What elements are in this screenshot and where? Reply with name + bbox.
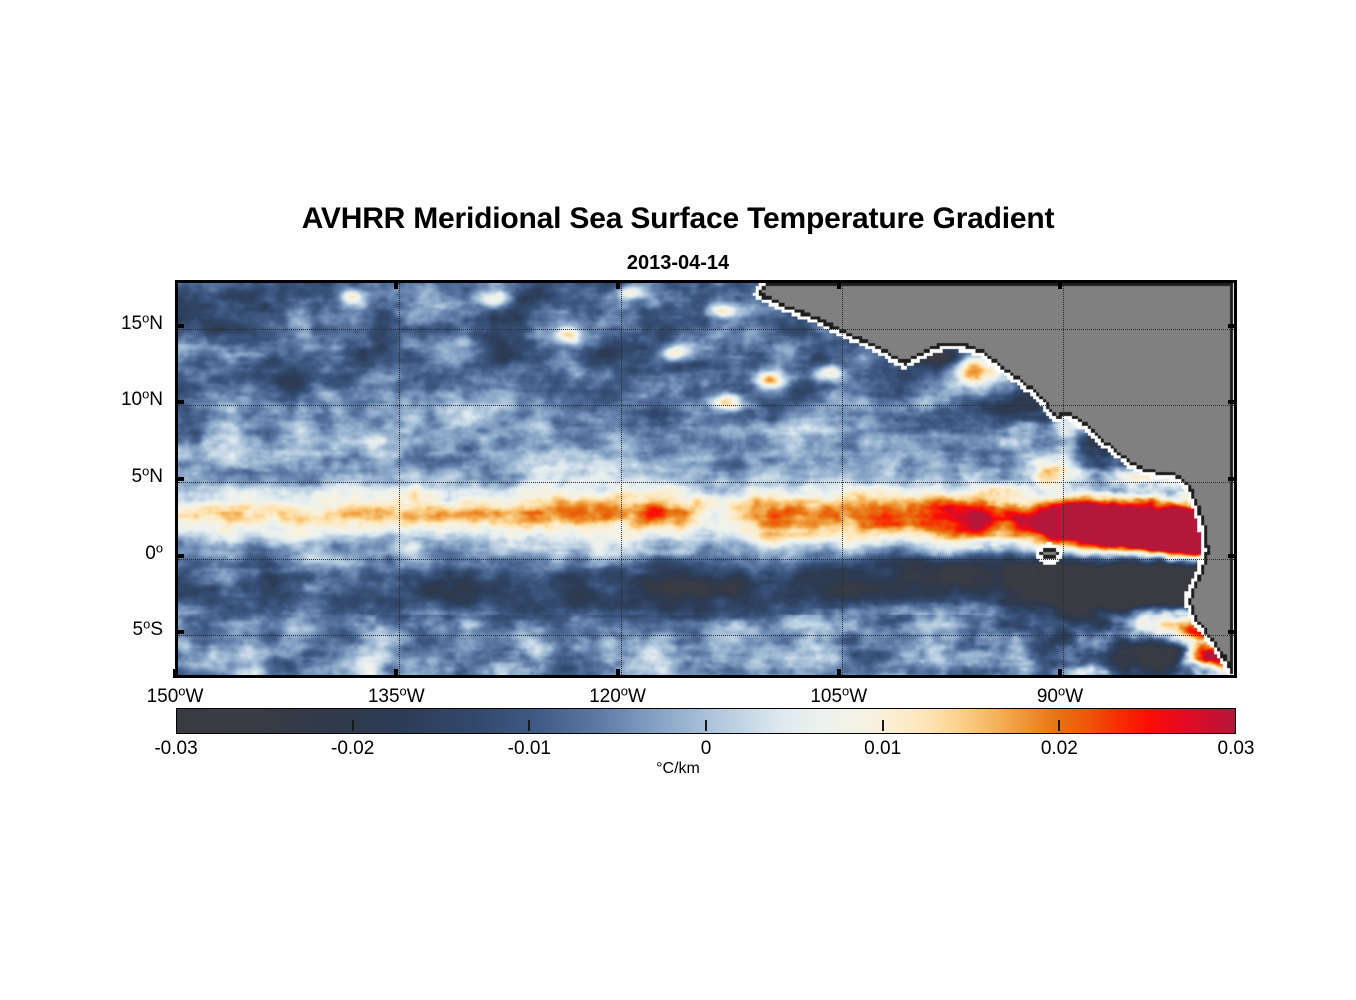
ytick-label-3: 0o <box>43 543 163 565</box>
xtick-mark-top-2 <box>616 280 620 289</box>
ytick-mark-right-1 <box>1228 400 1237 404</box>
colorbar-tick-1 <box>352 720 354 731</box>
ytick-mark-right-0 <box>1228 324 1237 328</box>
xtick-label-3: 105oW <box>769 686 909 708</box>
xtick-label-1: 135oW <box>326 686 466 708</box>
colorbar-label-0: -0.03 <box>106 738 246 760</box>
xtick-mark-0 <box>173 669 177 678</box>
xtick-mark-top-1 <box>394 280 398 289</box>
colorbar-label-6: 0.03 <box>1166 738 1306 760</box>
xtick-mark-4 <box>1058 669 1062 678</box>
figure-subtitle: 2013-04-14 <box>0 252 1356 275</box>
ytick-mark-4 <box>175 630 184 634</box>
colorbar-label-2: -0.01 <box>459 738 599 760</box>
xtick-label-4: 90oW <box>990 686 1130 708</box>
xtick-mark-1 <box>394 669 398 678</box>
page-title: AVHRR Meridional Sea Surface Temperature… <box>0 202 1356 236</box>
ytick-mark-right-4 <box>1228 630 1237 634</box>
xtick-mark-2 <box>616 669 620 678</box>
xtick-label-2: 120oW <box>548 686 688 708</box>
map-axes[interactable] <box>175 280 1237 678</box>
colorbar-tick-3 <box>705 720 707 731</box>
ytick-label-4: 5oS <box>43 619 163 641</box>
ytick-mark-right-3 <box>1228 554 1237 558</box>
ytick-mark-right-2 <box>1228 477 1237 481</box>
ytick-label-0: 15oN <box>43 313 163 335</box>
xtick-label-0: 150oW <box>105 686 245 708</box>
colorbar-tick-2 <box>528 720 530 731</box>
ytick-mark-2 <box>175 477 184 481</box>
ytick-label-1: 10oN <box>43 389 163 411</box>
ytick-mark-1 <box>175 400 184 404</box>
ytick-mark-3 <box>175 554 184 558</box>
figure-canvas: AVHRR Meridional Sea Surface Temperature… <box>0 0 1356 1000</box>
xtick-mark-top-3 <box>837 280 841 289</box>
colorbar-label-1: -0.02 <box>283 738 423 760</box>
colorbar-label-4: 0.01 <box>813 738 953 760</box>
ytick-mark-0 <box>175 324 184 328</box>
colorbar-tick-5 <box>1058 720 1060 731</box>
xtick-mark-3 <box>837 669 841 678</box>
colorbar-label-3: 0 <box>636 738 776 760</box>
ytick-label-2: 5oN <box>43 466 163 488</box>
colorbar-tick-4 <box>882 720 884 731</box>
colorbar-units-label: °C/km <box>0 760 1356 778</box>
sst-gradient-heatmap <box>178 283 1234 675</box>
colorbar-label-5: 0.02 <box>989 738 1129 760</box>
xtick-mark-top-4 <box>1058 280 1062 289</box>
